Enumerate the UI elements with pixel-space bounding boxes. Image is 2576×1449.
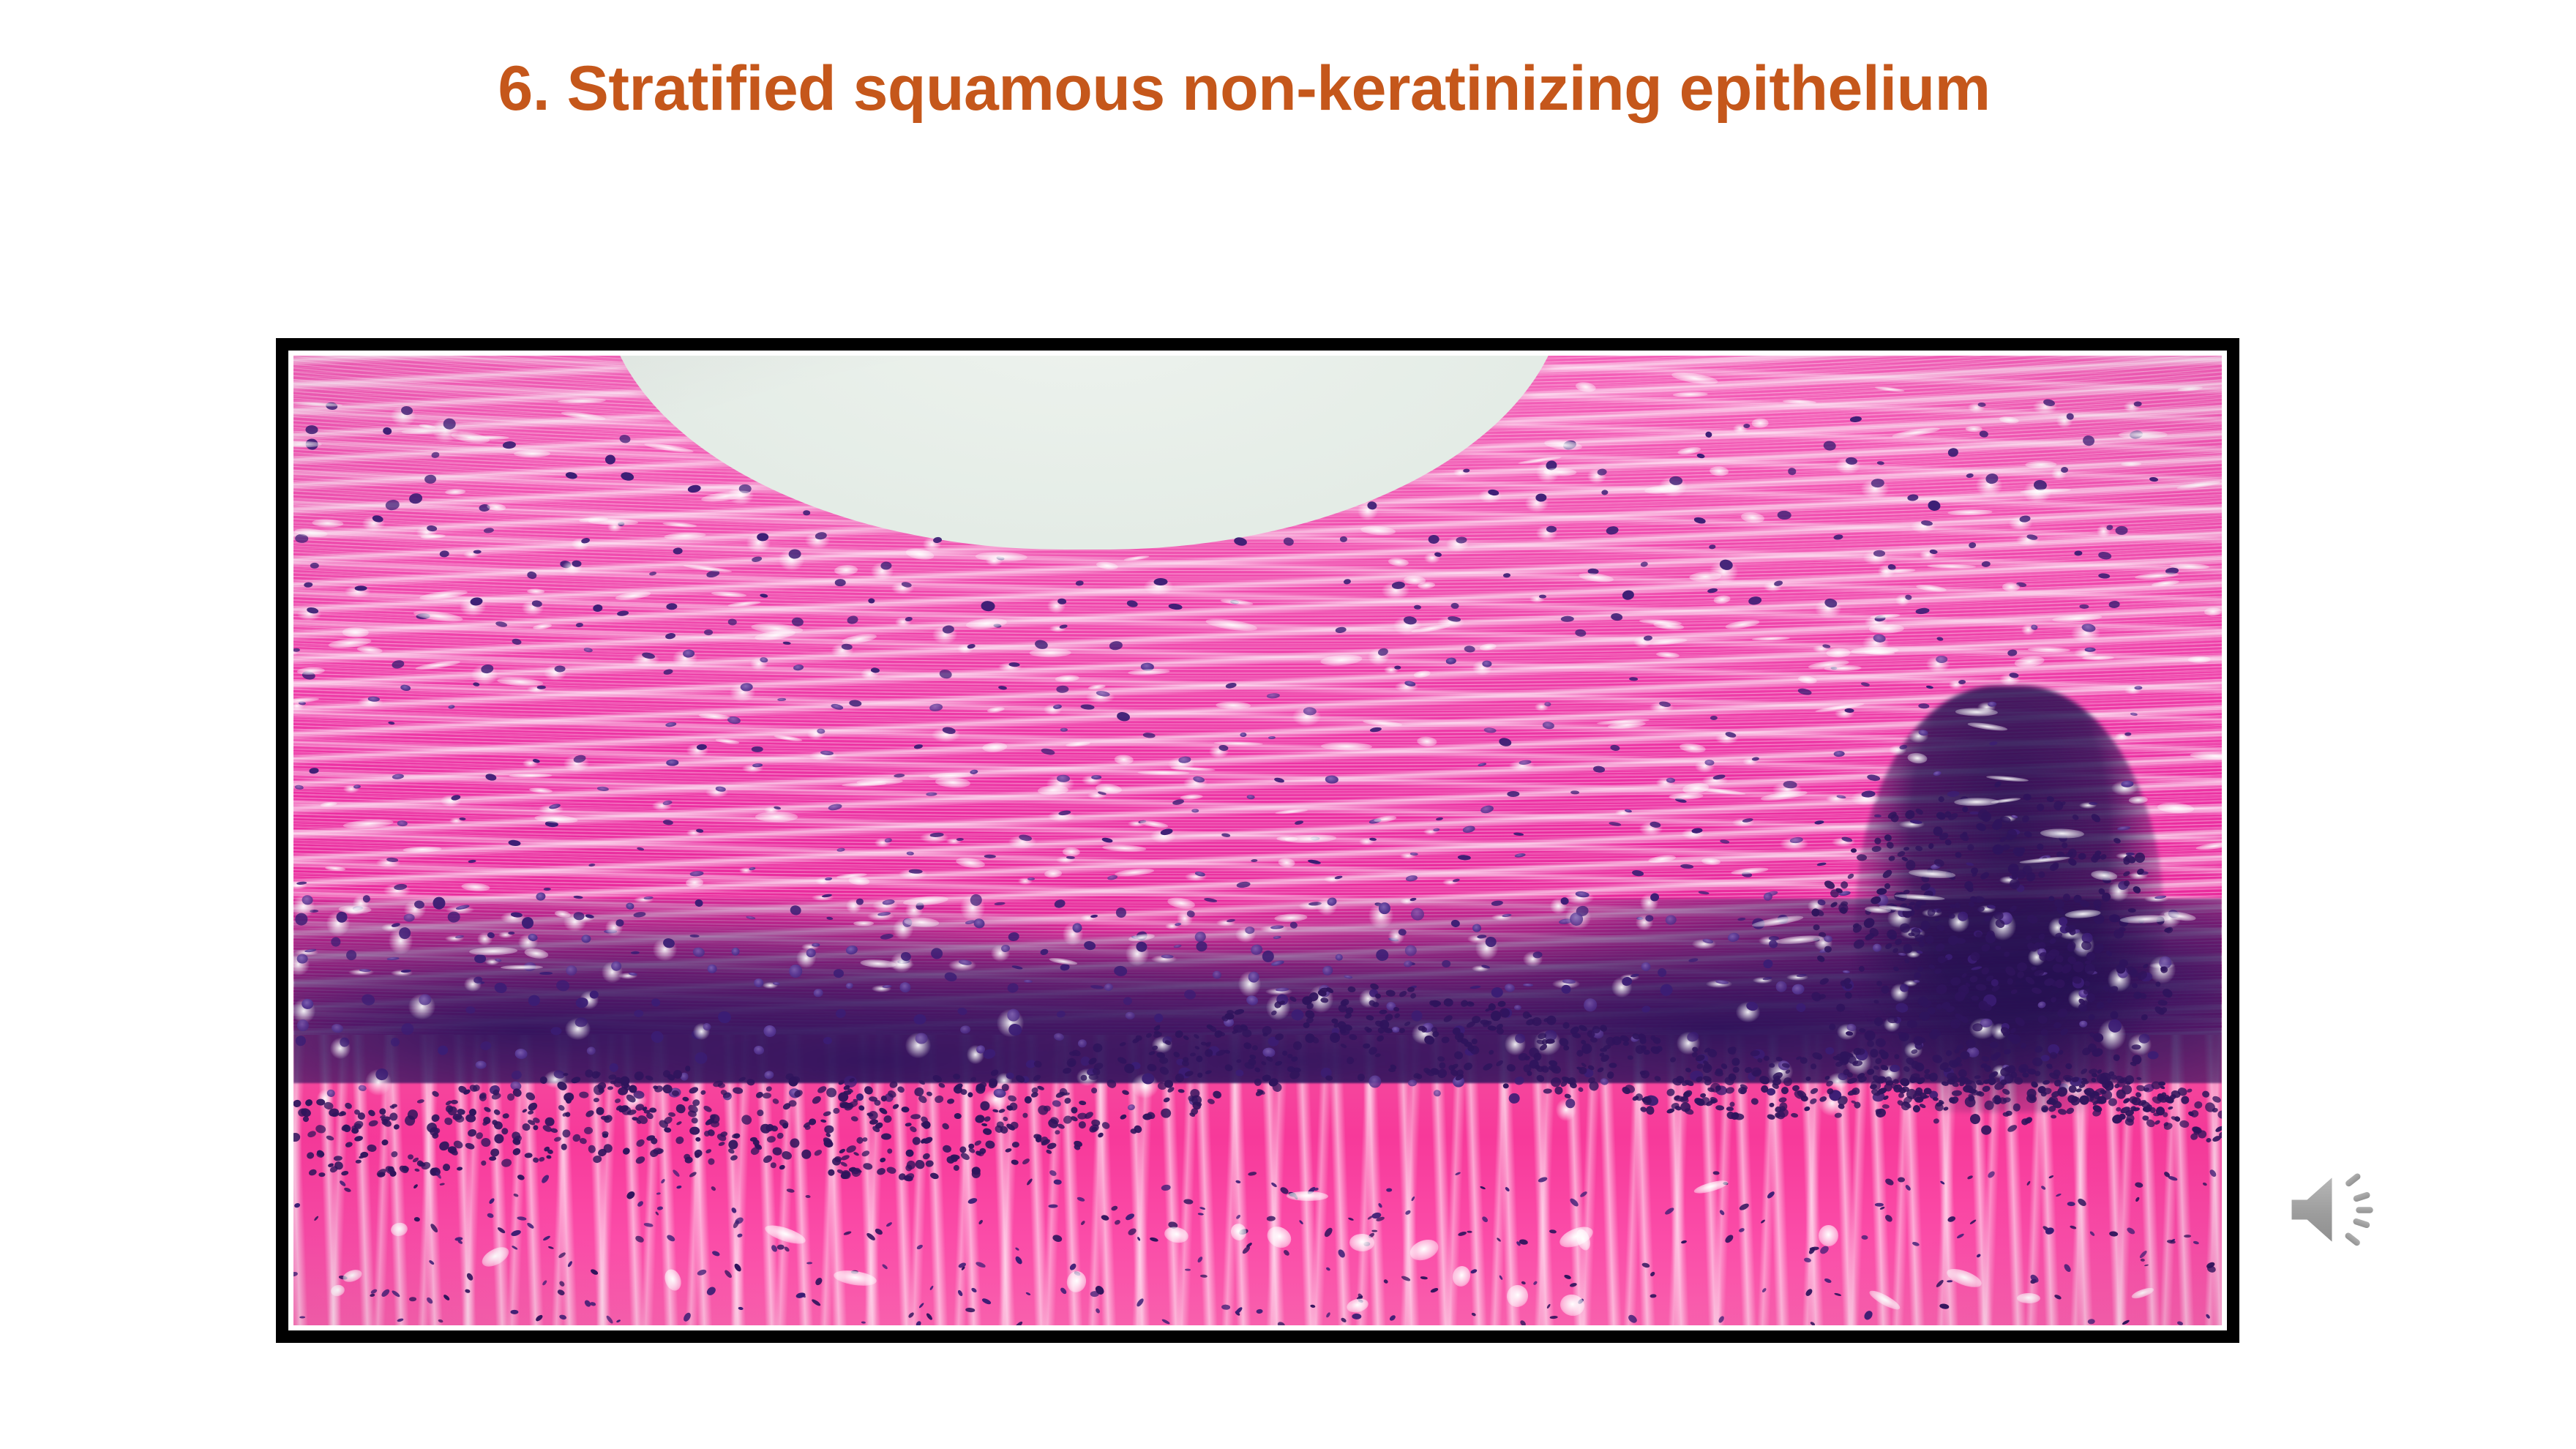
- speaker-cone: [2291, 1175, 2333, 1244]
- picture-frame[interactable]: [276, 338, 2239, 1343]
- slide-canvas: 6. Stratified squamous non-keratinizing …: [0, 0, 2576, 1449]
- sound-wave-marks: [2343, 1171, 2374, 1248]
- page-title: 6. Stratified squamous non-keratinizing …: [0, 57, 2488, 120]
- histology-micrograph[interactable]: [293, 356, 2222, 1325]
- speaker-icon[interactable]: [2282, 1162, 2405, 1257]
- rete-peg-region: [1855, 686, 2164, 1112]
- picture-frame-inner-border: [288, 351, 2227, 1330]
